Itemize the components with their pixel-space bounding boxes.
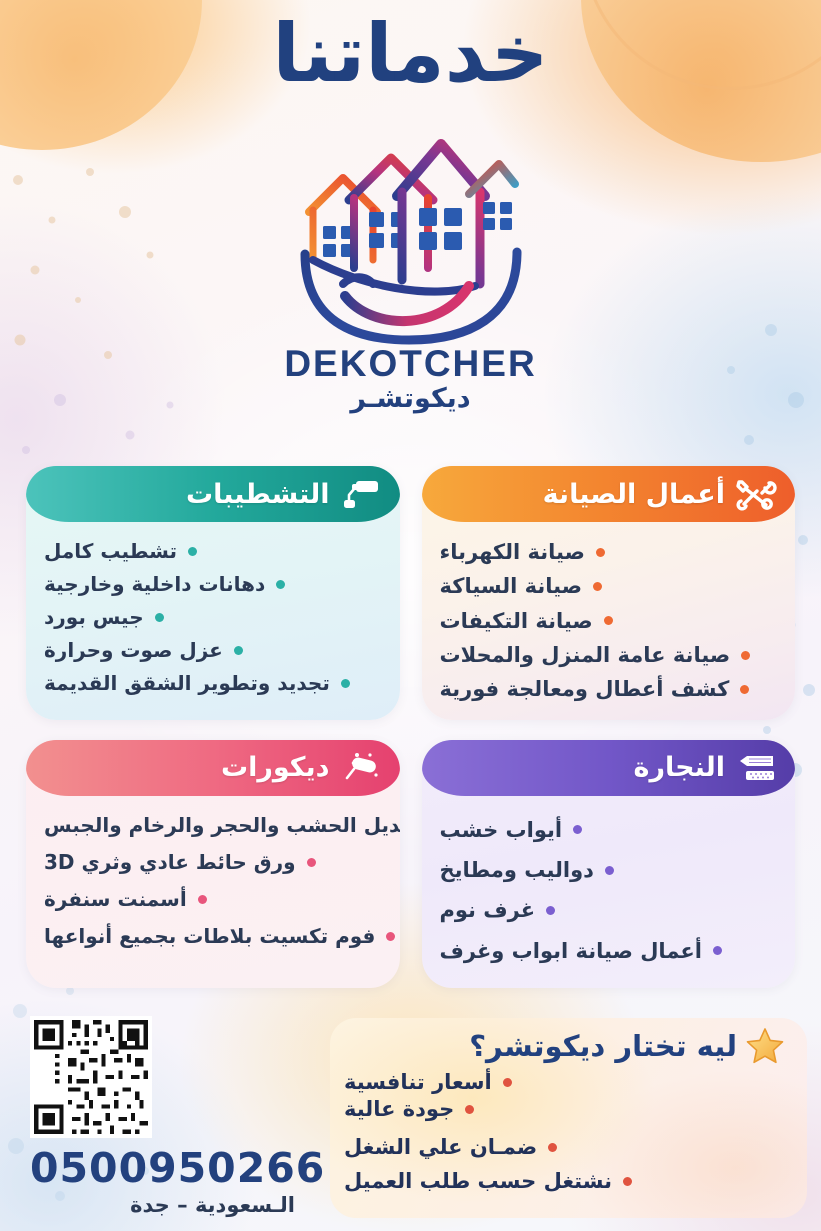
brand-logo: DEKOTCHER ديكوتشـر (0, 134, 821, 414)
card-header-decorations: ديكورات (26, 740, 400, 796)
bullet-dot (605, 866, 614, 875)
list-item-label: دهانات داخلية وخارجية (44, 571, 265, 598)
wrench-screwdriver-icon (735, 477, 777, 511)
contact-block: 0500950266 الـسعودية – جدة (30, 1016, 310, 1217)
list-item-label: ورق حائط عادي وثري 3D (44, 849, 296, 876)
list-item-label: صيانة الكهرباء (440, 538, 585, 566)
list-item-label: أسعار تنافسية (344, 1070, 492, 1094)
list-item: نشتغل حسب طلب العميل (344, 1169, 632, 1193)
list-item-label: صيانة التكيفات (440, 607, 593, 635)
bullet-dot (573, 825, 582, 834)
bullet-dot (596, 548, 605, 557)
paint-roller-icon (340, 477, 382, 511)
bullet-dot (740, 685, 749, 694)
list-item: صيانة التكيفات (440, 607, 613, 635)
bullet-dot (713, 946, 722, 955)
list-item-label: بديل الحشب والحجر والرخام والجبس (44, 812, 400, 839)
bullet-dot (741, 651, 750, 660)
list-item: جيس بورد (44, 604, 164, 631)
bullet-dot (155, 613, 164, 622)
list-item-label: تشطيب كامل (44, 538, 177, 565)
list-item: صيانة السياكة (440, 572, 603, 600)
list-item-label: أسمنت سنفرة (44, 886, 187, 913)
list-item-label: نشتغل حسب طلب العميل (344, 1169, 612, 1193)
service-card-carpentry[interactable]: النجارة أيواب خشب دواليب ومطايخ غرف نوم … (422, 740, 796, 988)
list-item: تجديد وتطوير الشقق القديمة (44, 670, 350, 697)
list-item: ضمـان علي الشغل (344, 1135, 557, 1159)
list-item-label: تجديد وتطوير الشقق القديمة (44, 670, 330, 697)
why-choose-us-panel: ليه تختار ديكوتشر؟ أسعار تنافسية جودة عا… (330, 1018, 807, 1218)
bullet-dot (234, 646, 243, 655)
bullet-dot (341, 679, 350, 688)
list-item-label: دواليب ومطايخ (440, 856, 594, 884)
list-item-label: كشف أعطال ومعالجة فورية (440, 675, 730, 703)
card-title: التشطيبات (186, 479, 330, 510)
card-title: النجارة (634, 752, 726, 783)
bullet-dot (276, 580, 285, 589)
card-items-finishes: تشطيب كامل دهانات داخلية وخارجية جيس بور… (26, 522, 400, 713)
service-card-maintenance[interactable]: أعمال الصيانة صيانة الكهرباء صيانة السيا… (422, 466, 796, 720)
qr-code[interactable] (30, 1016, 152, 1138)
phone-number[interactable]: 0500950266 (30, 1148, 310, 1189)
list-item-label: فوم تكسيت بلاطات بجميع أنواعها (44, 923, 375, 950)
card-header-carpentry: النجارة (422, 740, 796, 796)
why-choose-us-title: ليه تختار ديكوتشر؟ (469, 1029, 737, 1063)
bullet-dot (198, 895, 207, 904)
bullet-dot (604, 616, 613, 625)
service-card-finishes[interactable]: التشطيبات تشطيب كامل دهانات داخلية وخارج… (26, 466, 400, 720)
service-card-decorations[interactable]: ديكورات بديل الحشب والحجر والرخام والجبس… (26, 740, 400, 988)
logo-name-latin: DEKOTCHER (284, 343, 536, 385)
page-title: خدماتنا (0, 14, 821, 94)
list-item: دواليب ومطايخ (440, 856, 614, 884)
pencil-ruler-icon (735, 751, 777, 785)
list-item: أسعار تنافسية (344, 1070, 512, 1094)
bullet-dot (503, 1078, 512, 1087)
service-cards-grid: أعمال الصيانة صيانة الكهرباء صيانة السيا… (26, 466, 795, 988)
bullet-dot (593, 582, 602, 591)
list-item-label: ضمـان علي الشغل (344, 1135, 537, 1159)
list-item: غرف نوم (440, 896, 556, 924)
bullet-dot (307, 858, 316, 867)
list-item: عزل صوت وحرارة (44, 637, 243, 664)
bullet-dot (548, 1143, 557, 1152)
location-label: الـسعودية – جدة (30, 1193, 295, 1217)
list-item-label: أعمال صيانة ابواب وغرف (440, 937, 702, 965)
card-items-decorations: بديل الحشب والحجر والرخام والجبس ورق حائ… (26, 796, 400, 966)
logo-name-arabic: ديكوتشـر (350, 383, 470, 414)
list-item: تشطيب كامل (44, 538, 197, 565)
list-item-label: جودة عالية (344, 1097, 454, 1121)
list-item-label: أيواب خشب (440, 816, 563, 844)
card-items-maintenance: صيانة الكهرباء صيانة السياكة صيانة التكي… (422, 522, 796, 720)
bullet-dot (465, 1105, 474, 1114)
list-item: فوم تكسيت بلاطات بجميع أنواعها (44, 923, 395, 950)
list-item-label: جيس بورد (44, 604, 144, 631)
list-item-label: صيانة السياكة (440, 572, 583, 600)
list-item: كشف أعطال ومعالجة فورية (440, 675, 750, 703)
star-icon (745, 1026, 785, 1066)
card-title: أعمال الصيانة (543, 479, 725, 510)
service-flyer: خدماتنا (0, 0, 821, 1231)
bullet-dot (546, 906, 555, 915)
list-item-label: غرف نوم (440, 896, 536, 924)
list-item: صيانة الكهرباء (440, 538, 605, 566)
list-item: جودة عالية (344, 1097, 474, 1121)
list-item: أيواب خشب (440, 816, 583, 844)
list-item: أعمال صيانة ابواب وغرف (440, 937, 722, 965)
card-header-finishes: التشطيبات (26, 466, 400, 522)
list-item-label: صيانة عامة المنزل والمحلات (440, 641, 731, 669)
why-choose-us-header: ليه تختار ديكوتشر؟ (344, 1026, 789, 1066)
bullet-dot (188, 547, 197, 556)
why-choose-us-list: أسعار تنافسية جودة عالية ضمـان علي الشغل… (344, 1070, 789, 1193)
list-item: بديل الحشب والحجر والرخام والجبس (44, 812, 400, 839)
card-header-maintenance: أعمال الصيانة (422, 466, 796, 522)
list-item: صيانة عامة المنزل والمحلات (440, 641, 751, 669)
bullet-dot (623, 1177, 632, 1186)
house-smile-logo-icon (291, 134, 531, 349)
card-items-carpentry: أيواب خشب دواليب ومطايخ غرف نوم أعمال صي… (422, 796, 796, 981)
card-title: ديكورات (221, 752, 330, 783)
list-item: ورق حائط عادي وثري 3D (44, 849, 316, 876)
list-item: دهانات داخلية وخارجية (44, 571, 285, 598)
decor-roller-icon (340, 751, 382, 785)
bullet-dot (386, 932, 395, 941)
list-item: أسمنت سنفرة (44, 886, 207, 913)
list-item-label: عزل صوت وحرارة (44, 637, 223, 664)
